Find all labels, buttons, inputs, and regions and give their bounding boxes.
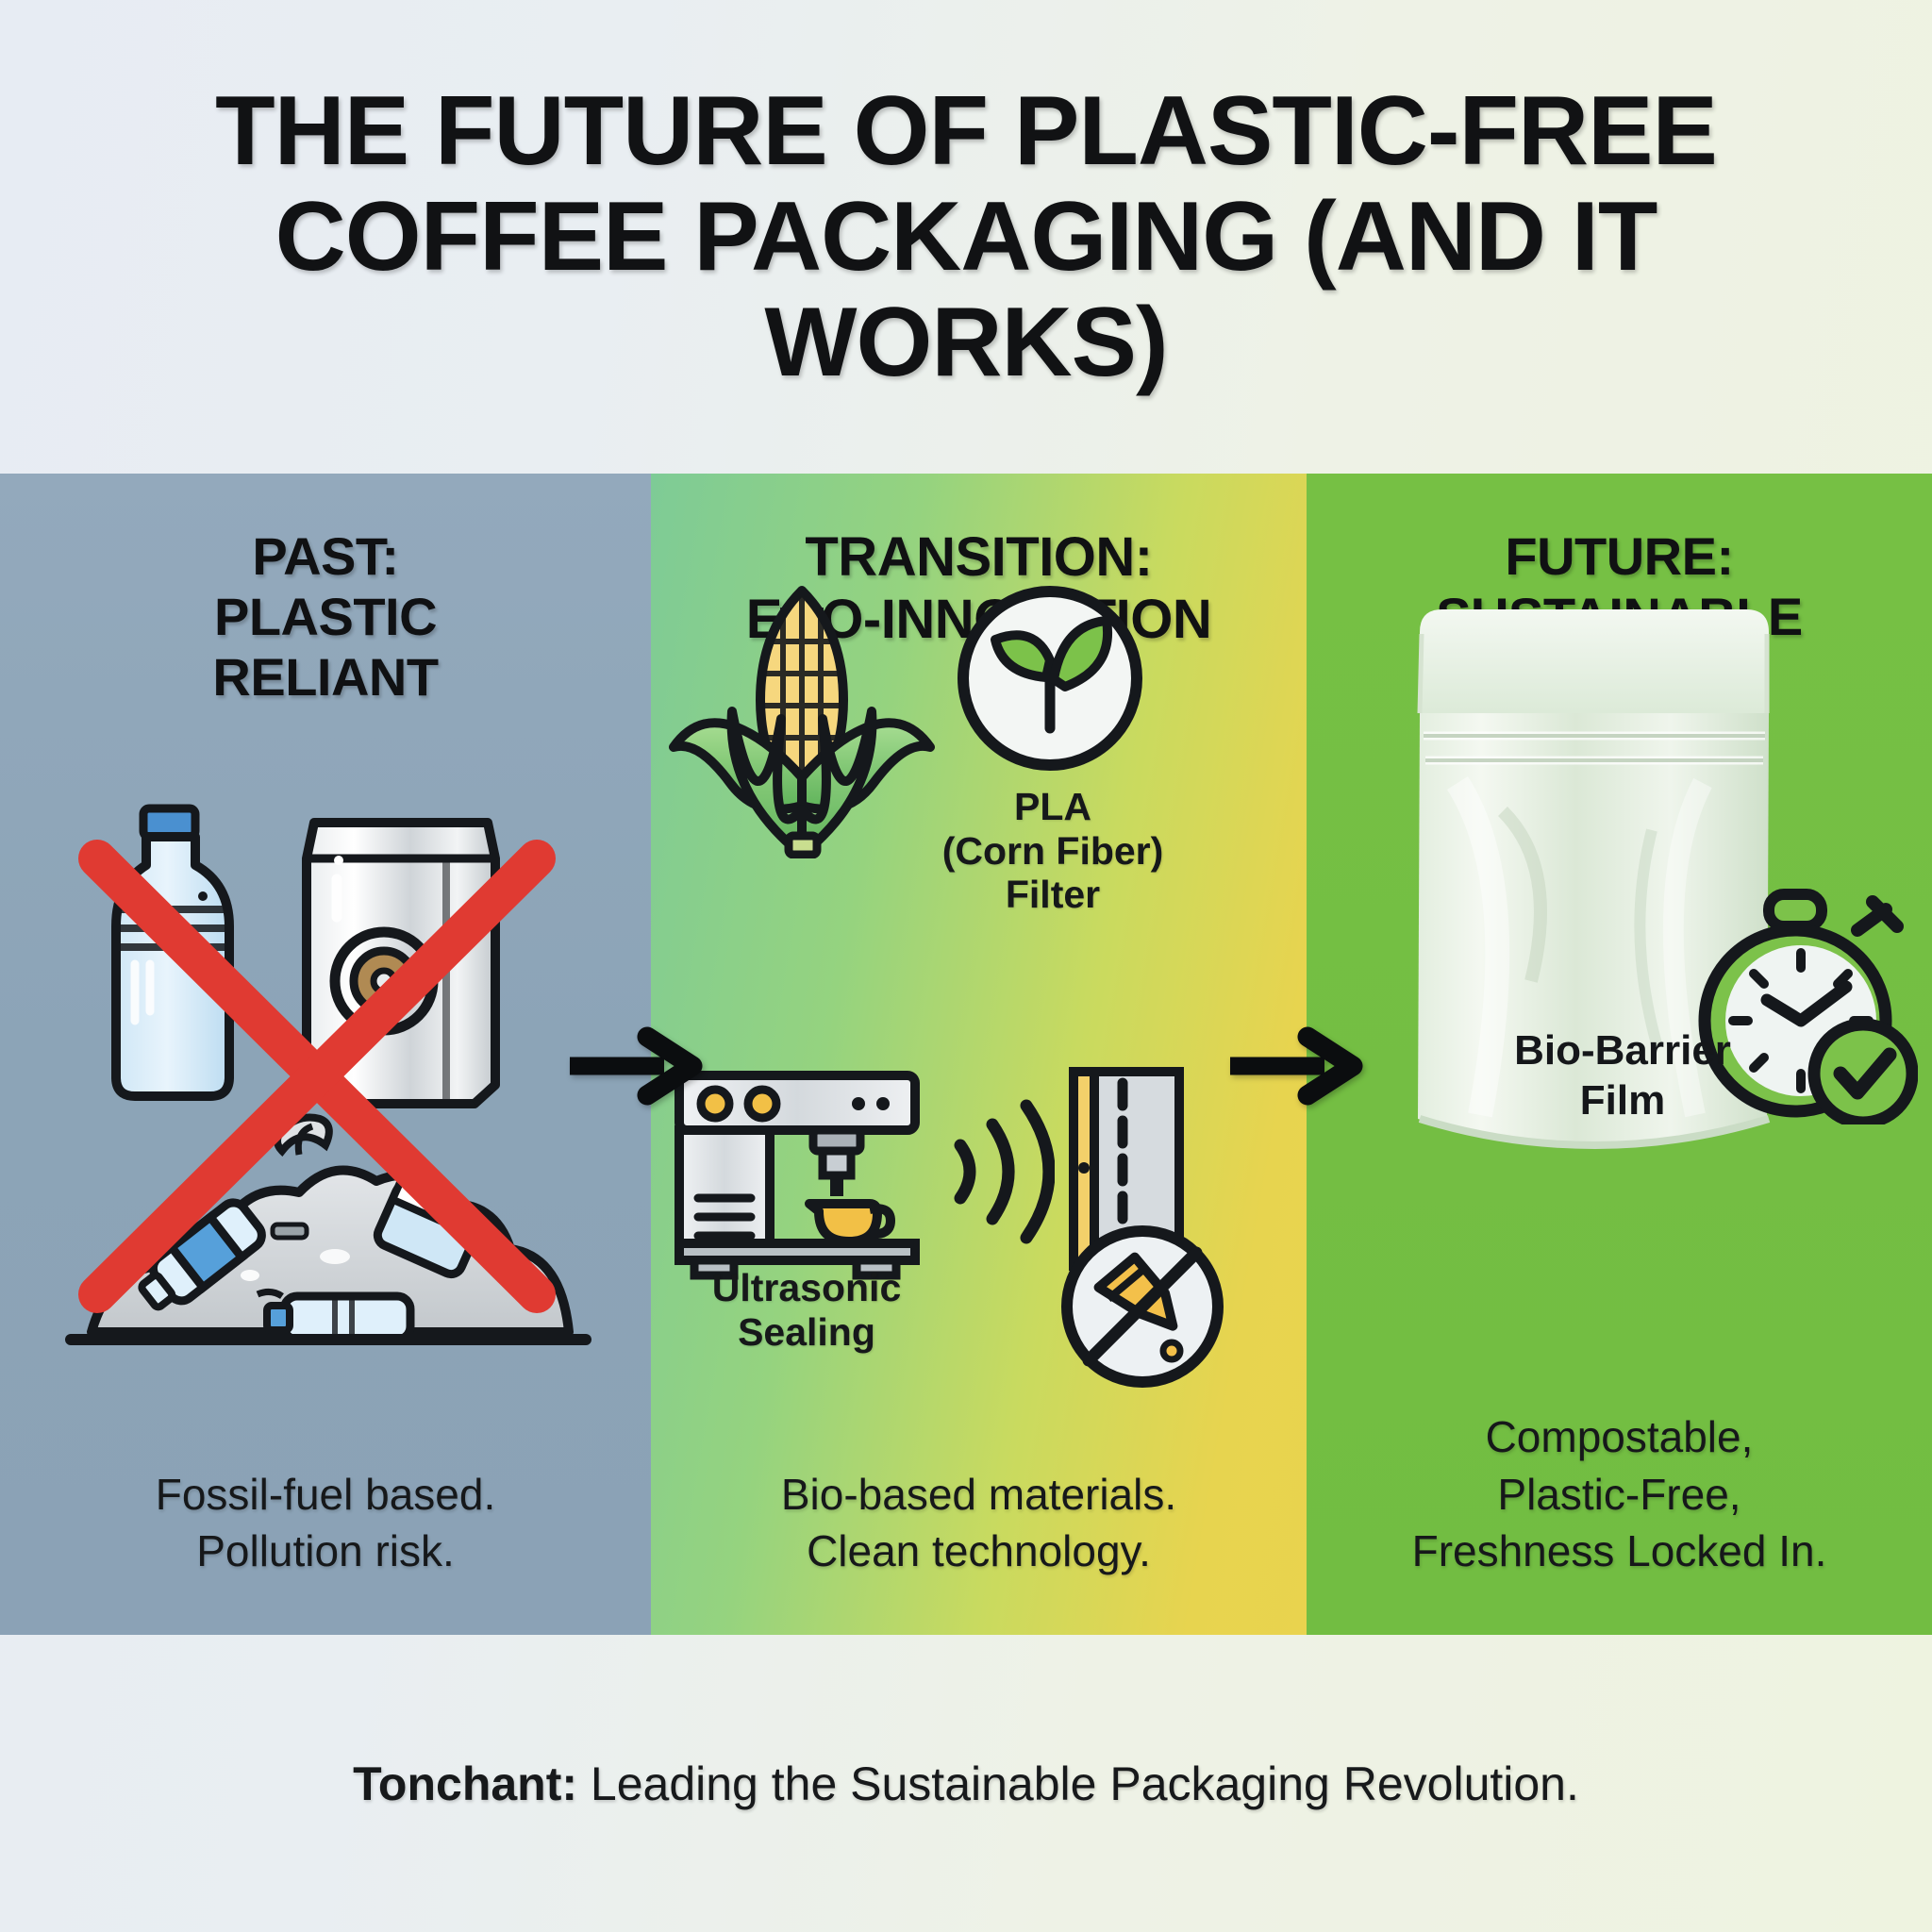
pla-line-2: (Corn Fiber)	[892, 829, 1213, 874]
title-line-2: COFFEE PACKAGING (AND IT WORKS)	[136, 184, 1796, 396]
espresso-machine-icon	[670, 1066, 943, 1283]
caption-line-1: Fossil-fuel based.	[25, 1466, 626, 1524]
caption-line-1: Compostable,	[1331, 1408, 1907, 1466]
sound-wave-icon	[951, 1096, 1055, 1247]
pla-filter-label: PLA (Corn Fiber) Filter	[892, 785, 1213, 917]
header-band: THE FUTURE OF PLASTIC-FREE COFFEE PACKAG…	[0, 0, 1932, 474]
column-past: PAST: PLASTIC RELIANT	[0, 474, 651, 1635]
arrow-past-to-transition	[566, 1024, 708, 1108]
title-line-1: THE FUTURE OF PLASTIC-FREE	[136, 78, 1796, 184]
past-illustration	[52, 785, 608, 1389]
caption-line-3: Freshness Locked In.	[1331, 1523, 1907, 1580]
caption-line-2: Pollution risk.	[25, 1523, 626, 1580]
sealing-line-1: Ultrasonic	[670, 1266, 943, 1310]
caption-line-2: Clean technology.	[675, 1523, 1282, 1580]
footer-tagline-text: Leading the Sustainable Packaging Revolu…	[577, 1757, 1579, 1810]
column-past-heading: PAST: PLASTIC RELIANT	[0, 526, 651, 707]
column-past-caption: Fossil-fuel based. Pollution risk.	[0, 1466, 651, 1580]
infographic-canvas: THE FUTURE OF PLASTIC-FREE COFFEE PACKAG…	[0, 0, 1932, 1932]
column-transition: TRANSITION: ECO-INNOVATION	[651, 474, 1307, 1635]
footer-brand: Tonchant:	[353, 1757, 577, 1810]
leaf-badge-icon	[951, 579, 1149, 777]
pouch-label-line-2: Film	[1472, 1076, 1774, 1126]
heading-line-1: FUTURE:	[1329, 526, 1909, 587]
heading-line-3: RELIANT	[23, 647, 628, 708]
sealing-line-2: Sealing	[670, 1310, 943, 1355]
column-future-caption: Compostable, Plastic-Free, Freshness Loc…	[1307, 1408, 1932, 1580]
no-glue-badge-icon	[1055, 1219, 1230, 1394]
pouch-label: Bio-Barrier Film	[1472, 1026, 1774, 1126]
heading-line-2: PLASTIC	[23, 587, 628, 647]
footer-band: Tonchant: Leading the Sustainable Packag…	[0, 1635, 1932, 1932]
footer-tagline: Tonchant: Leading the Sustainable Packag…	[353, 1757, 1579, 1811]
page-title: THE FUTURE OF PLASTIC-FREE COFFEE PACKAG…	[136, 78, 1796, 396]
pouch-label-line-1: Bio-Barrier	[1472, 1026, 1774, 1076]
ultrasonic-sealing-label: Ultrasonic Sealing	[670, 1266, 943, 1354]
arrow-transition-to-future	[1226, 1024, 1368, 1108]
check-badge-icon	[1814, 1024, 1912, 1123]
pla-line-1: PLA	[892, 785, 1213, 829]
pla-line-3: Filter	[892, 873, 1213, 917]
heading-line-1: PAST:	[23, 526, 628, 587]
column-transition-caption: Bio-based materials. Clean technology.	[651, 1466, 1307, 1580]
caption-line-1: Bio-based materials.	[675, 1466, 1282, 1524]
caption-line-2: Plastic-Free,	[1331, 1466, 1907, 1524]
